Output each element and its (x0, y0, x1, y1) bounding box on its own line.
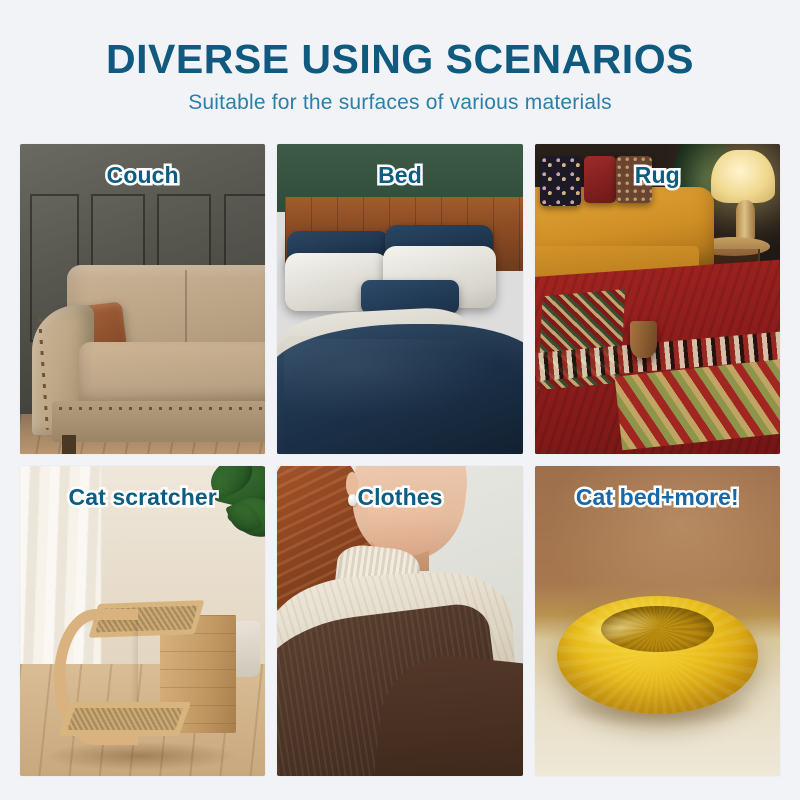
lamp-shade (711, 150, 775, 203)
sofa-skirt (52, 401, 265, 441)
page-subtitle: Suitable for the surfaces of various mat… (0, 91, 800, 115)
scenario-grid: Couch Bed (20, 144, 780, 776)
couch-photo (20, 144, 265, 454)
page-header: DIVERSE USING SCENARIOS Suitable for the… (0, 0, 800, 115)
scenario-tile-cat-bed[interactable]: Cat bed+more! (535, 466, 780, 776)
rug-photo (535, 144, 780, 454)
scenario-tile-bed[interactable]: Bed (277, 144, 522, 454)
pearl-earring (348, 494, 356, 506)
scratcher-bottom-pad (59, 702, 191, 736)
bed-photo (277, 144, 522, 454)
wooden-jar (630, 321, 657, 358)
page-title: DIVERSE USING SCENARIOS (0, 38, 800, 81)
sofa-leg (62, 435, 77, 454)
cat-bed-photo (535, 466, 780, 776)
scenario-tile-rug[interactable]: Rug (535, 144, 780, 454)
tile-label-cat-scratcher: Cat scratcher (68, 484, 216, 511)
tile-label-bed: Bed (378, 162, 422, 189)
cat-scratcher-photo (20, 466, 265, 776)
tile-label-cat-bed: Cat bed+more! (576, 484, 739, 511)
wooden-scratcher (54, 596, 236, 751)
scenario-tile-cat-scratcher[interactable]: Cat scratcher (20, 466, 265, 776)
scenario-tile-clothes[interactable]: Clothes (277, 466, 522, 776)
scenario-tile-couch[interactable]: Couch (20, 144, 265, 454)
tile-label-clothes: Clothes (357, 484, 442, 511)
navy-duvet (277, 324, 522, 454)
patterned-cushion (540, 156, 582, 206)
tile-label-rug: Rug (635, 162, 680, 189)
clothes-photo (277, 466, 522, 776)
tile-label-couch: Couch (107, 162, 179, 189)
red-cushion (584, 156, 616, 203)
sofa-seat-cushion (79, 342, 265, 407)
